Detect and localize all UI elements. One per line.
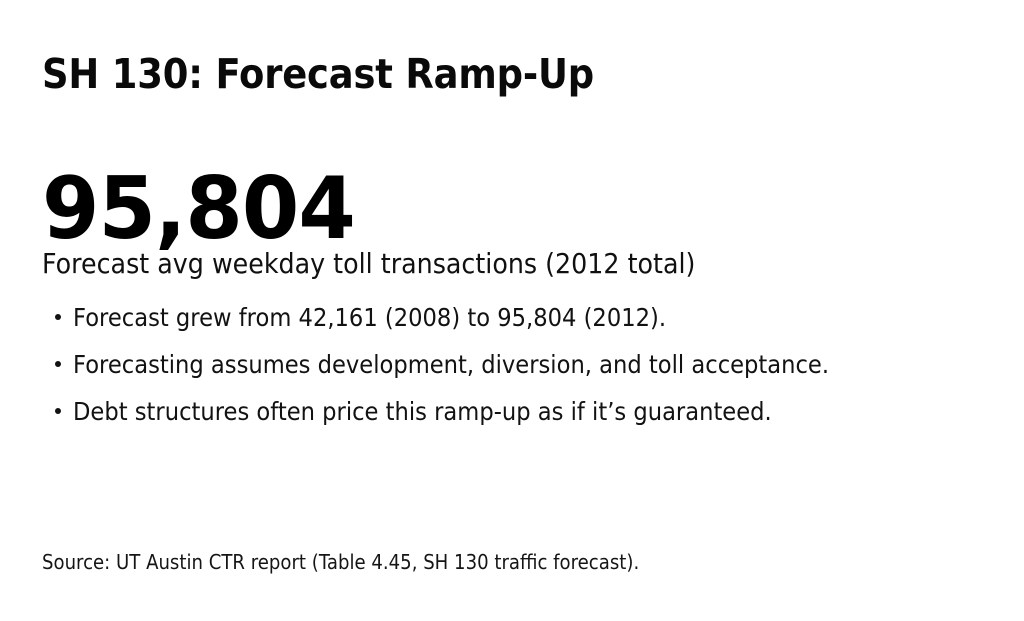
bullet-dot-icon bbox=[55, 314, 61, 320]
slide-canvas: SH 130: Forecast Ramp-Up 95,804 Forecast… bbox=[0, 0, 1024, 621]
list-item-label: Forecasting assumes development, diversi… bbox=[73, 350, 829, 380]
list-item: Forecasting assumes development, diversi… bbox=[55, 350, 908, 397]
bullet-list: Forecast grew from 42,161 (2008) to 95,8… bbox=[55, 303, 908, 444]
list-item-label: Debt structures often price this ramp-up… bbox=[73, 397, 772, 427]
list-item: Forecast grew from 42,161 (2008) to 95,8… bbox=[55, 303, 908, 350]
bullet-dot-icon bbox=[55, 408, 61, 414]
source-note: Source: UT Austin CTR report (Table 4.45… bbox=[42, 550, 639, 574]
bullet-dot-icon bbox=[55, 361, 61, 367]
headline-stat-value: 95,804 bbox=[42, 166, 355, 252]
headline-stat-caption: Forecast avg weekday toll transactions (… bbox=[42, 248, 695, 280]
list-item-label: Forecast grew from 42,161 (2008) to 95,8… bbox=[73, 303, 666, 333]
list-item: Debt structures often price this ramp-up… bbox=[55, 397, 908, 444]
page-title: SH 130: Forecast Ramp-Up bbox=[42, 50, 594, 98]
